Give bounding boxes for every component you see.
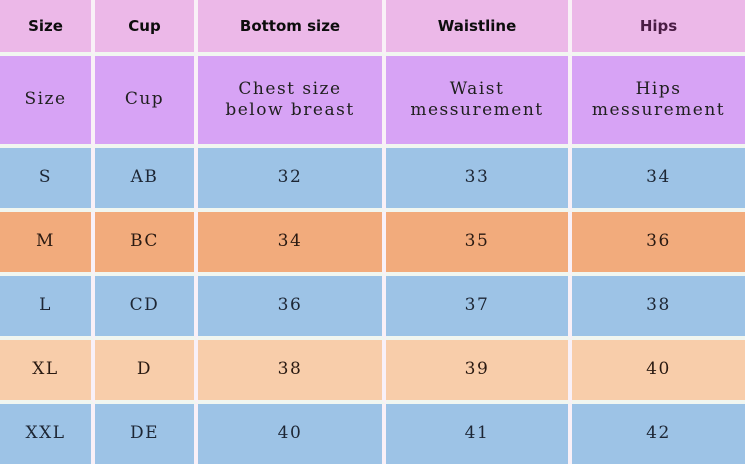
table-row: XXL DE 40 41 42 (0, 404, 745, 464)
column-header-waistline: Waistline (386, 0, 572, 56)
subheader-cup: Cup (95, 56, 198, 148)
cell-size: L (0, 276, 95, 340)
subheader-hips-line1: Hips (572, 79, 745, 100)
table-row: L CD 36 37 38 (0, 276, 745, 340)
cell-hips: 36 (572, 212, 745, 276)
cell-size: XL (0, 340, 95, 404)
subheader-bottom-size-line1: Chest size (198, 79, 382, 100)
subheader-waistline-line2: messurement (386, 100, 568, 121)
cell-cup: BC (95, 212, 198, 276)
subheader-bottom-size-line2: below breast (198, 100, 382, 121)
cell-cup: D (95, 340, 198, 404)
cell-waist: 33 (386, 148, 572, 212)
subheader-waistline-line1: Waist (386, 79, 568, 100)
cell-size: S (0, 148, 95, 212)
subheader-size-line1: Size (0, 89, 91, 110)
table-subheader-row: Size Cup Chest size below breast Waist m… (0, 56, 745, 148)
cell-bottom: 40 (198, 404, 386, 464)
table-row: S AB 32 33 34 (0, 148, 745, 212)
cell-hips: 42 (572, 404, 745, 464)
cell-size: XXL (0, 404, 95, 464)
column-header-size: Size (0, 0, 95, 56)
cell-bottom: 32 (198, 148, 386, 212)
column-header-bottom-size: Bottom size (198, 0, 386, 56)
cell-waist: 39 (386, 340, 572, 404)
cell-hips: 38 (572, 276, 745, 340)
subheader-bottom-size: Chest size below breast (198, 56, 386, 148)
table-row: M BC 34 35 36 (0, 212, 745, 276)
subheader-size: Size (0, 56, 95, 148)
subheader-waistline: Waist messurement (386, 56, 572, 148)
cell-bottom: 38 (198, 340, 386, 404)
subheader-hips-line2: messurement (572, 100, 745, 121)
subheader-cup-line1: Cup (95, 89, 194, 110)
cell-waist: 35 (386, 212, 572, 276)
cell-cup: CD (95, 276, 198, 340)
table-header-row: Size Cup Bottom size Waistline Hips (0, 0, 745, 56)
table-row: XL D 38 39 40 (0, 340, 745, 404)
cell-bottom: 36 (198, 276, 386, 340)
cell-waist: 37 (386, 276, 572, 340)
cell-cup: DE (95, 404, 198, 464)
cell-cup: AB (95, 148, 198, 212)
cell-hips: 40 (572, 340, 745, 404)
size-chart-table: Size Cup Bottom size Waistline Hips Size… (0, 0, 745, 464)
cell-bottom: 34 (198, 212, 386, 276)
subheader-hips: Hips messurement (572, 56, 745, 148)
column-header-hips: Hips (572, 0, 745, 56)
column-header-cup: Cup (95, 0, 198, 56)
cell-size: M (0, 212, 95, 276)
cell-waist: 41 (386, 404, 572, 464)
cell-hips: 34 (572, 148, 745, 212)
